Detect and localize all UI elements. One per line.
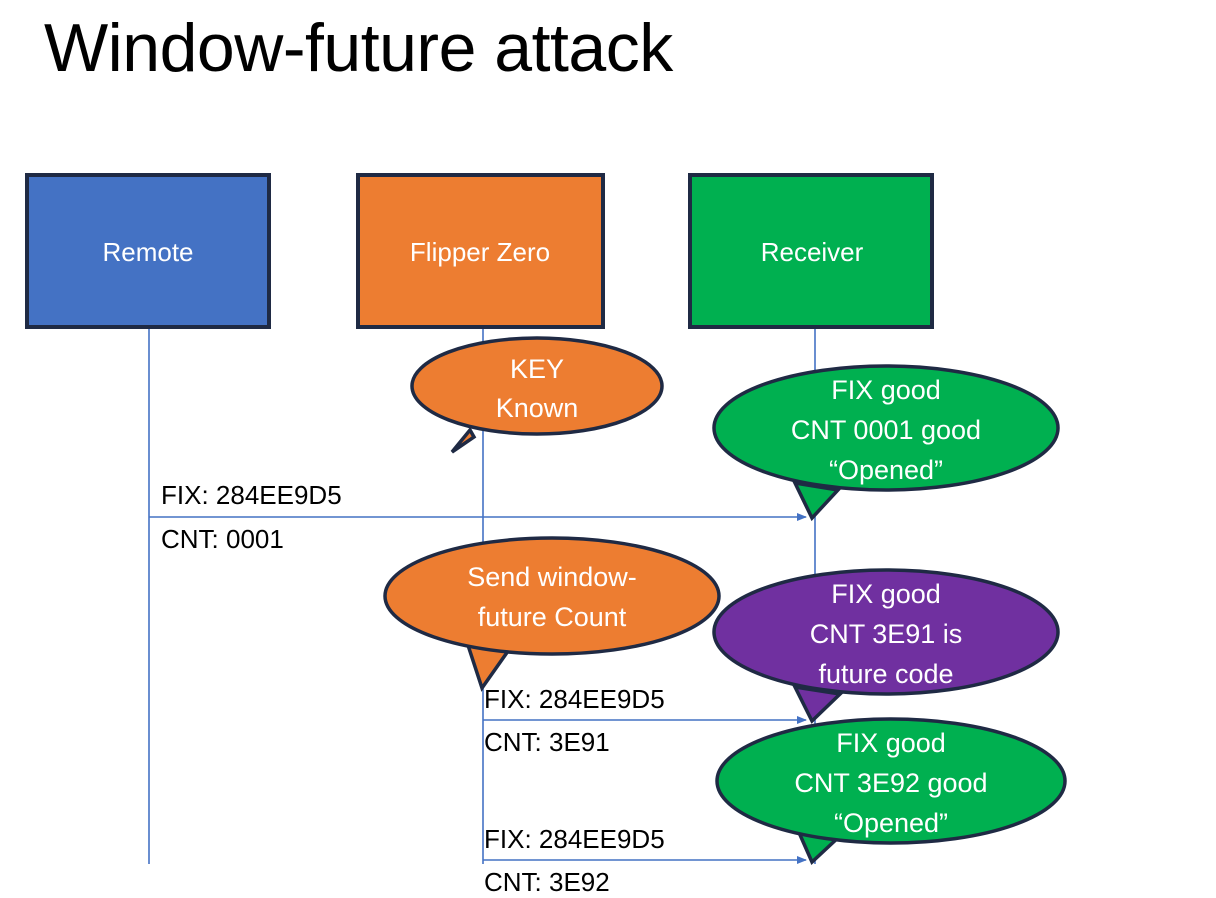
- actor-box-receiver[interactable]: Receiver: [690, 175, 932, 327]
- callout-receiver-ok-3e92[interactable]: FIX good CNT 3E92 good “Opened”: [717, 719, 1065, 862]
- message-2-fix-label: FIX: 284EE9D5: [484, 684, 665, 714]
- callout-send-window-future[interactable]: Send window- future Count: [385, 538, 719, 688]
- callout-receiver-future-3e91[interactable]: FIX good CNT 3E91 is future code: [714, 570, 1058, 721]
- callout-receiver-future-3e91-line-2: CNT 3E91 is: [810, 619, 963, 649]
- callout-receiver-future-3e91-line-1: FIX good: [831, 579, 941, 609]
- message-3-fix-label: FIX: 284EE9D5: [484, 824, 665, 854]
- callout-key-known-line-1: KEY: [510, 354, 564, 384]
- message-1-fix-label: FIX: 284EE9D5: [161, 480, 342, 510]
- callout-receiver-future-3e91-line-3: future code: [818, 659, 953, 689]
- callout-receiver-ok-3e92-line-1: FIX good: [836, 728, 946, 758]
- callout-key-known[interactable]: KEY Known: [412, 338, 662, 452]
- actor-label-flipper-zero: Flipper Zero: [410, 237, 550, 267]
- actor-label-remote: Remote: [102, 237, 193, 267]
- callout-receiver-ok-0001-line-2: CNT 0001 good: [791, 415, 981, 445]
- message-2-cnt-label: CNT: 3E91: [484, 727, 610, 757]
- callout-send-window-future-line-1: Send window-: [467, 562, 637, 592]
- message-1-cnt-label: CNT: 0001: [161, 524, 284, 554]
- callout-send-window-future-line-2: future Count: [478, 602, 627, 632]
- callout-receiver-ok-3e92-line-2: CNT 3E92 good: [794, 768, 987, 798]
- slide-canvas: Window-future attack Remote Flipper Zero…: [0, 0, 1216, 898]
- callout-receiver-ok-0001-line-3: “Opened”: [829, 455, 943, 485]
- callout-key-known-line-2: Known: [496, 393, 579, 423]
- callout-receiver-ok-0001[interactable]: FIX good CNT 0001 good “Opened”: [714, 366, 1058, 518]
- sequence-diagram: Remote Flipper Zero Receiver FIX: 284EE9…: [0, 0, 1216, 898]
- actor-box-remote[interactable]: Remote: [27, 175, 269, 327]
- actor-box-flipper-zero[interactable]: Flipper Zero: [358, 175, 603, 327]
- callout-receiver-ok-0001-line-1: FIX good: [831, 375, 941, 405]
- message-3-cnt-label: CNT: 3E92: [484, 867, 610, 897]
- callout-receiver-ok-3e92-line-3: “Opened”: [834, 808, 948, 838]
- actor-label-receiver: Receiver: [761, 237, 864, 267]
